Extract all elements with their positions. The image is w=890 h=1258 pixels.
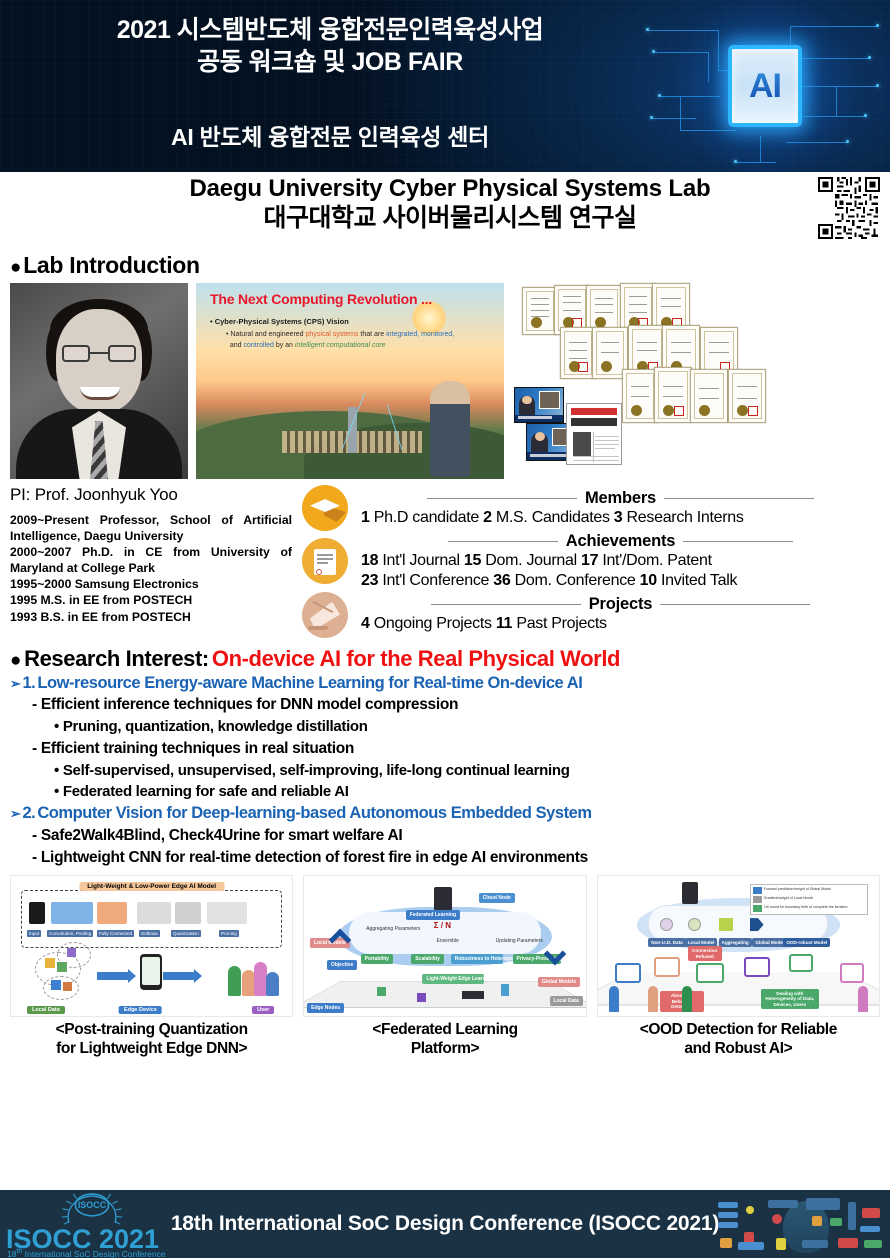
pi-portrait-photo [10,283,188,479]
dash-bullet-icon: - [32,849,37,866]
figure-1-box-label: Light-Weight & Low-Power Edge AI Model [79,882,224,891]
dash-bullet-icon: - [32,740,37,757]
pi-biography: 2009~Present Professor, School of Artifi… [10,512,292,625]
figure-1-stage-tag: Softmax [139,930,160,937]
certificate-thumb [522,287,558,335]
awards-certificates-collage [512,283,880,479]
dot-bullet-icon: • [54,718,59,735]
stat-title-projects: Projects [589,595,653,614]
figure-federated-learning: Cloud Node Federated Learning Aggregatin… [303,875,586,1058]
figure-3-image: Forward prediction/weight of Global Mode… [597,875,880,1017]
lab-introduction-label: Lab Introduction [23,252,200,279]
figure-2-node-label: Cloud Node [479,893,515,903]
arrow-bullet-icon: ➢ [10,805,20,823]
graduation-cap-icon [298,485,352,531]
figure-1-stage-tag: Fully Connected [97,930,134,937]
research-item-1-sub-1: - Efficient inference techniques for DNN… [10,694,880,716]
figure-3-inner-label: Non-I.I.D. Data [648,938,685,948]
desk-lamp-icon [298,592,352,638]
research-item-1-title: Low-resource Energy-aware Machine Learni… [37,672,582,695]
chip-ai-label: AI [749,67,781,106]
cps-slide-bullet-1: • Cyber-Physical Systems (CPS) Vision [210,317,349,326]
dot-bullet-icon: • [54,783,59,800]
research-item-1-sub-2-child-2: • Federated learning for safe and reliab… [10,781,880,802]
stat-members: Members 1 Ph.D candidate 2 M.S. Candidat… [298,485,880,531]
header-title-block: 2021 시스템반도체 융합전문인력육성사업 공동 워크숍 및 JOB FAIR [0,14,660,78]
pi-bio-line: 2009~Present Professor, School of Artifi… [10,512,292,544]
lab-title-bar: 대 구 대 학 교 DAEGU UNIVERSITY Daegu Univers… [0,172,890,248]
figure-2-formula: Σ / N [434,921,451,930]
figure-ood-detection: Forward prediction/weight of Global Mode… [597,875,880,1058]
research-item-2-num: 2. [22,802,35,825]
stat-line: 1 Ph.D candidate 2 M.S. Candidates 3 Res… [361,508,880,528]
figure-1-bottom-tag: Edge Device [119,1006,162,1014]
lab-stats-column: Members 1 Ph.D candidate 2 M.S. Candidat… [292,485,880,639]
figure-1-image: Light-Weight & Low-Power Edge AI Model I… [10,875,293,1017]
research-figures-row: Light-Weight & Low-Power Edge AI Model I… [0,869,890,1058]
header-line-3: AI 반도체 융합전문 인력육성 센터 [0,118,660,152]
research-item-2-sub-2: - Lightweight CNN for real-time detectio… [10,847,880,869]
figure-1-stage-tag: Pruning [219,930,239,937]
arrow-bullet-icon: ➢ [10,675,20,693]
figure-1-bottom-tag: User [252,1006,274,1014]
stat-line: 23 Int'l Conference 36 Dom. Conference 1… [361,571,880,591]
cps-slide-bullet-2: • Natural and engineered physical system… [226,330,496,351]
research-interest-heading: ● Research Interest: On-device AI for th… [10,646,880,672]
research-interest-label: Research Interest: [24,646,209,672]
figure-2-caption: <Federated Learning Platform> [303,1021,586,1058]
dot-bullet-icon: • [54,762,59,779]
certificate-thumb [622,369,658,423]
research-item-1-sub-1-child-1: • Pruning, quantization, knowledge disti… [10,716,880,737]
lab-title-en: Daegu University Cyber Physical Systems … [10,175,890,203]
figure-2-inner-label: Ensemble [437,938,459,944]
stat-achievements: Achievements 18 Int'l Journal 15 Dom. Jo… [298,532,880,591]
pi-info-column: PI: Prof. Joonhyuk Yoo 2009~Present Prof… [10,485,292,639]
cps-vision-slide: The Next Computing Revolution ... • Cybe… [196,283,504,479]
figure-2-cloud-label: Federated Learning [406,910,460,920]
figure-2-side-label: Objective [327,960,358,970]
figure-2-side-label: Edge Nodes [307,1003,344,1013]
intro-media-row: The Next Computing Revolution ... • Cybe… [0,283,890,483]
research-item-1-sub-2: - Efficient training techniques in real … [10,738,880,760]
svg-text:ISOCC: ISOCC [78,1200,107,1210]
poster-footer: 18th International SoC Design Conference… [0,1190,890,1258]
qr-code-icon[interactable] [818,177,880,239]
figure-2-pill: Portability [361,954,393,964]
figure-2-pill: Scalability [411,954,444,964]
research-item-2-sub-1: - Safe2Walk4Blind, Check4Urine for smart… [10,825,880,847]
stat-line: 4 Ongoing Projects 11 Past Projects [361,614,880,634]
isocc-logo: ISOCC ISOCC 2021 18th International SoC … [4,1192,180,1256]
figure-1-stage-tag: Convolution, Pooling [47,930,93,937]
certificate-thumb [690,369,728,423]
figure-3-caption: <OOD Detection for Reliable and Robust A… [597,1021,880,1058]
dash-bullet-icon: - [32,827,37,844]
section-bullet-icon: ● [10,651,21,670]
figure-1-bottom-tag: Local Data [27,1006,65,1014]
cps-slide-title: The Next Computing Revolution ... [210,291,432,307]
certificate-thumb [654,367,692,423]
pi-bio-line: 2000~2007 Ph.D. in CE from University of… [10,544,292,576]
research-item-1-num: 1. [22,672,35,695]
certificate-icon [298,538,352,584]
figure-2-inner-label: Updating Parameters [496,938,543,944]
certificate-thumb [560,327,596,379]
figure-2-pill: Light-Weight Edge Learning Model [422,974,484,984]
research-interest-section: ● Research Interest: On-device AI for th… [0,639,890,869]
pi-name: PI: Prof. Joonhyuk Yoo [10,485,292,505]
section-bullet-icon: ● [10,258,21,277]
figure-3-inner-label: Aggregating [719,938,752,948]
figure-3-inner-label: Global Model [752,938,787,948]
figure-post-training-quantization: Light-Weight & Low-Power Edge AI Model I… [10,875,293,1058]
stat-projects: Projects 4 Ongoing Projects 11 Past Proj… [298,592,880,638]
research-item-1-sub-2-child-1: • Self-supervised, unsupervised, self-im… [10,760,880,781]
figure-2-side-label: Global Models [538,977,580,987]
footer-tech-illustration [714,1192,886,1256]
pi-bio-line: 1993 B.S. in EE from POSTECH [10,609,292,625]
stat-title-achievements: Achievements [566,532,675,551]
figure-3-tag: Dealing with Heterogeneity of Data, Devi… [761,989,819,1010]
research-item-2-title: Computer Vision for Deep-learning-based … [37,802,591,825]
research-interest-title: On-device AI for the Real Physical World [212,646,620,672]
stat-title-members: Members [585,489,656,508]
certificate-thumb [728,369,766,423]
figure-2-pill: Robustness to Heterogeneity [451,954,503,964]
newspaper-clipping-thumb [566,403,622,465]
dash-bullet-icon: - [32,696,37,713]
figure-2-image: Cloud Node Federated Learning Aggregatin… [303,875,586,1017]
stat-line: 18 Int'l Journal 15 Dom. Journal 17 Int'… [361,551,880,571]
lab-title-kr: 대구대학교 사이버물리시스템 연구실 [10,203,890,234]
figure-3-tag: Connection Refused [688,946,722,961]
pi-bio-line: 1995 M.S. in EE from POSTECH [10,592,292,608]
figure-2-inner-label: Aggregating Parameters [366,926,420,932]
figure-2-side-label: Local Data [550,996,583,1006]
research-item-2: ➢ 2. Computer Vision for Deep-learning-b… [10,802,880,825]
figure-3-inner-label: OOD-robust Model [783,938,830,948]
poster-header: 2021 시스템반도체 융합전문인력육성사업 공동 워크숍 및 JOB FAIR… [0,0,890,172]
figure-1-stage-tag: Input [27,930,41,937]
isocc-logo-subtitle: 18th International SoC Design Conference [7,1247,166,1258]
pi-and-stats-row: PI: Prof. Joonhyuk Yoo 2009~Present Prof… [0,483,890,639]
footer-conference-title: 18th International SoC Design Conference… [171,1212,719,1236]
figure-1-stage-tag: Quantization [171,930,201,937]
header-line-2: 공동 워크숍 및 JOB FAIR [0,46,660,78]
header-line-1: 2021 시스템반도체 융합전문인력육성사업 [0,14,660,46]
lab-introduction-heading: ● Lab Introduction [10,252,890,279]
figure-1-caption: <Post-training Quantization for Lightwei… [10,1021,293,1058]
pi-bio-line: 1995~2000 Samsung Electronics [10,576,292,592]
chip-body: AI [728,45,802,127]
news-broadcast-thumb [514,387,564,423]
figure-3-legend: Forward prediction/weight of Global Mode… [750,884,868,915]
lab-titles: Daegu University Cyber Physical Systems … [0,175,890,235]
ai-chip-graphic: AI [640,0,890,172]
research-item-1: ➢ 1. Low-resource Energy-aware Machine L… [10,672,880,695]
